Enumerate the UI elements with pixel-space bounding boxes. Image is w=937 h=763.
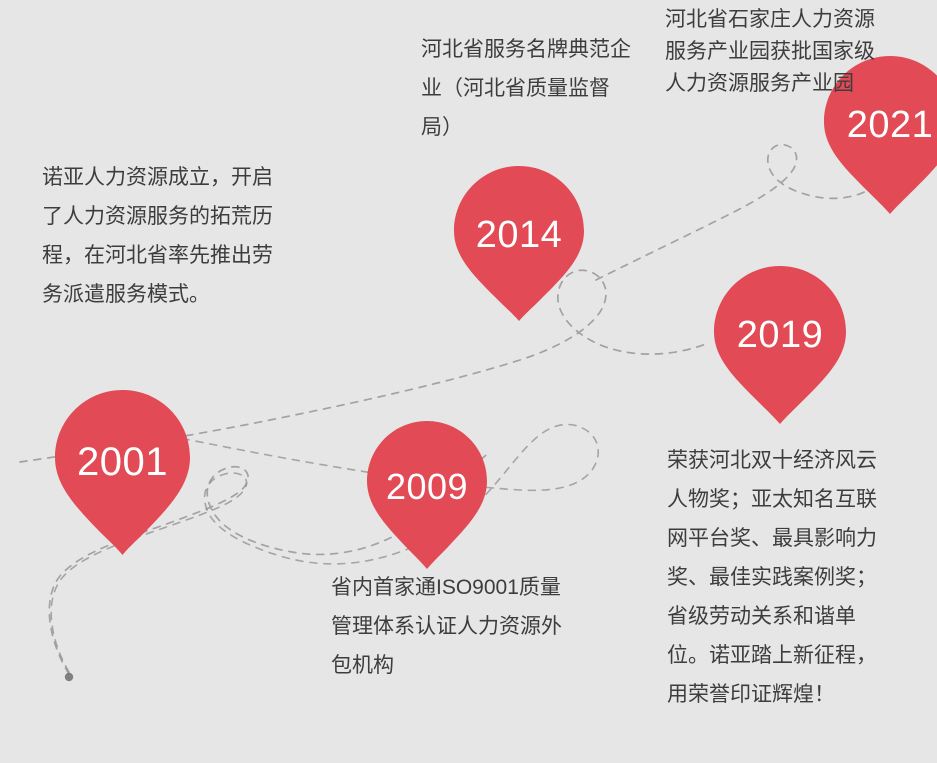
map-marker-icon xyxy=(454,166,584,321)
milestone-description-2019: 荣获河北双十经济风云人物奖；亚太知名互联网平台奖、最具影响力奖、最佳实践案例奖；… xyxy=(667,441,897,714)
path-start-dot xyxy=(65,673,73,681)
timeline-pin-2001[interactable]: 2001 xyxy=(55,390,190,555)
timeline-pin-2014[interactable]: 2014 xyxy=(454,166,584,321)
map-marker-icon xyxy=(714,266,846,424)
timeline-pin-2019[interactable]: 2019 xyxy=(714,266,846,424)
timeline-pin-2009[interactable]: 2009 xyxy=(367,421,487,569)
timeline-infographic: 诺亚人力资源成立，开启了人力资源服务的拓荒历程，在河北省率先推出劳务派遣服务模式… xyxy=(0,0,937,763)
milestone-description-2014: 河北省服务名牌典范企业（河北省质量监督局） xyxy=(421,30,636,147)
map-marker-icon xyxy=(367,421,487,569)
milestone-description-2009: 省内首家通ISO9001质量管理体系认证人力资源外包机构 xyxy=(331,568,566,685)
milestone-description-2001: 诺亚人力资源成立，开启了人力资源服务的拓荒历程，在河北省率先推出劳务派遣服务模式… xyxy=(42,158,282,314)
milestone-description-2021: 河北省石家庄人力资源服务产业园获批国家级人力资源服务产业园 xyxy=(665,4,880,100)
map-marker-icon xyxy=(55,390,190,555)
